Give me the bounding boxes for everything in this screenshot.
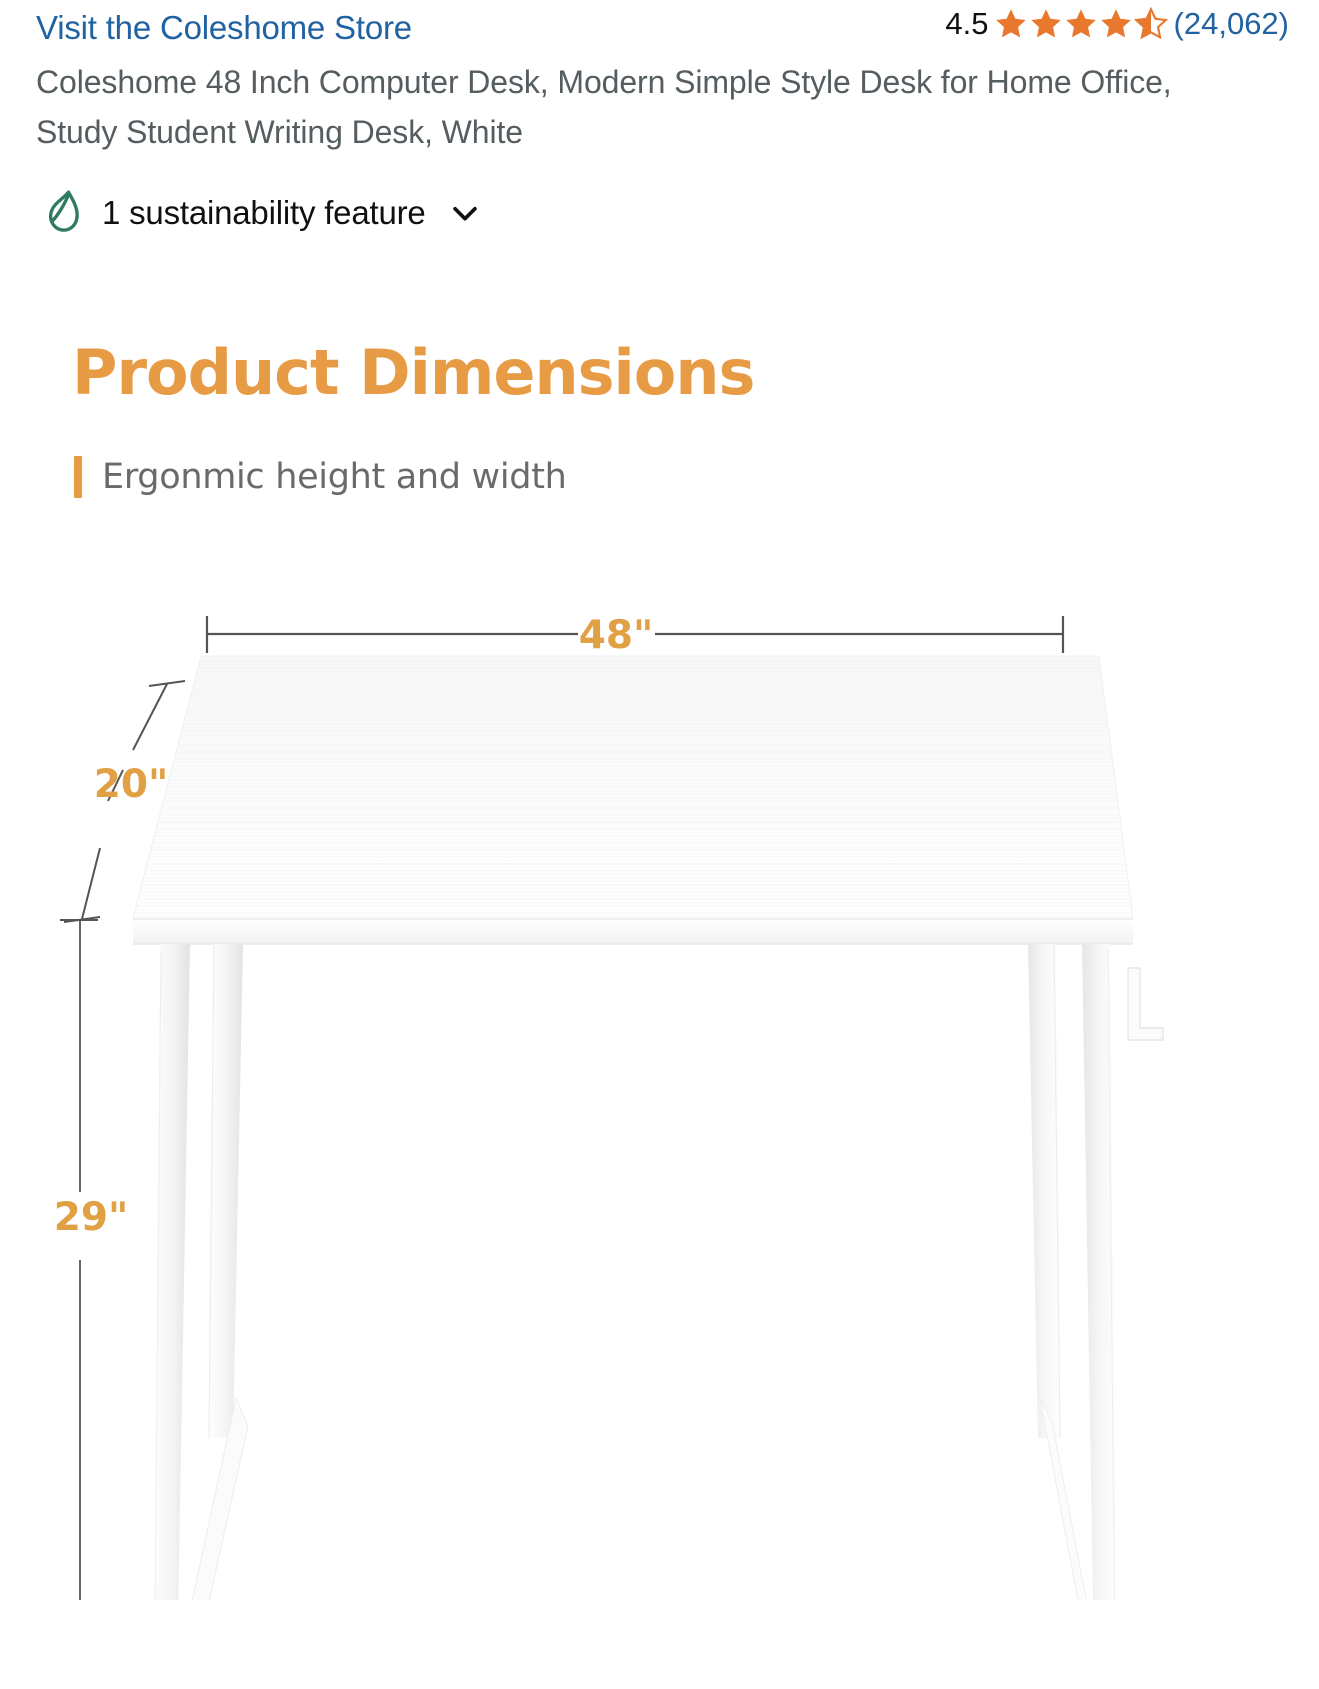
rating-block[interactable]: 4.5 [945,6,1289,42]
star-icon-4 [1098,7,1134,41]
store-link[interactable]: Visit the Coleshome Store [36,9,412,47]
desk-top [133,656,1133,944]
store-and-rating-row: Visit the Coleshome Store 4.5 [36,0,1283,52]
desk-leg-right [1028,944,1123,1600]
star-icon-5-half [1133,7,1169,41]
page-title: Coleshome 48 Inch Computer Desk, Modern … [36,58,1196,157]
rating-value: 4.5 [945,6,988,42]
star-icon-3 [1063,7,1099,41]
module-heading: Product Dimensions [72,336,754,409]
chevron-down-icon[interactable] [448,196,482,230]
accent-bar [74,456,82,498]
module-subheading-row: Ergonmic height and width [74,456,567,498]
dimension-line-height [60,920,98,1600]
desk-diagram-svg: 48" [0,520,1319,1600]
product-dimension-diagram: 48" [0,520,1319,1600]
product-header: Visit the Coleshome Store 4.5 [0,0,1319,52]
review-count-link[interactable]: (24,062) [1174,6,1289,42]
sustainability-label: 1 sustainability feature [102,194,426,232]
leaf-icon [44,190,88,236]
module-subheading: Ergonmic height and width [102,457,567,497]
dimension-label-depth: 20" [94,762,169,807]
star-rating[interactable] [993,7,1168,41]
star-icon-2 [1028,7,1064,41]
desk-leg-left [150,944,248,1600]
dimension-label-width: 48" [579,613,654,658]
dimension-label-height: 29" [54,1195,129,1240]
side-hook-icon [1128,968,1163,1040]
star-icon-1 [993,7,1029,41]
product-detail-page: Visit the Coleshome Store 4.5 [0,0,1319,1689]
sustainability-feature-row[interactable]: 1 sustainability feature [44,190,482,236]
